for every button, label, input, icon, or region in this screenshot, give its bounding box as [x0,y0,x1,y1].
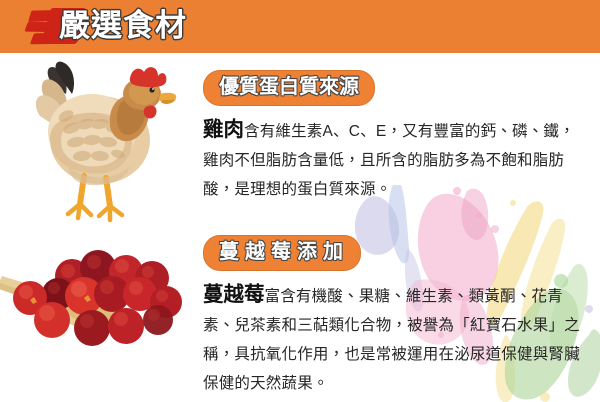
protein-body-text: 雞肉含有維生素A、C、E，又有豐富的鈣、磷、鐵，雞肉不但脂肪含量低，且所含的脂肪… [203,115,588,204]
page-title: 嚴選食材 [59,7,187,45]
section-protein: 優質蛋白質來源 雞肉含有維生素A、C、E，又有豐富的鈣、磷、鐵，雞肉不但脂肪含量… [203,70,588,204]
badge-protein-title: 優質蛋白質來源 [203,70,375,106]
header-bar: 嚴選食材 [0,0,600,53]
cranberry-lead-word: 蔓越莓 [203,283,265,306]
badge-cranberry-title: 蔓越莓添加 [203,235,361,271]
section-cranberry: 蔓越莓添加 蔓越莓富含有機酸、果糖、維生素、類黃酮、花青素、兒茶素和三萜類化合物… [203,235,588,398]
product-ingredient-card: 嚴選食材 [0,0,600,402]
protein-body-copy: 含有維生素A、C、E，又有豐富的鈣、磷、鐵，雞肉不但脂肪含量低，且所含的脂肪多為… [203,123,575,198]
cranberry-body-text: 蔓越莓富含有機酸、果糖、維生素、類黃酮、花青素、兒茶素和三萜類化合物，被譽為「紅… [203,280,588,398]
protein-lead-word: 雞肉 [203,118,244,141]
content-area: 優質蛋白質來源 雞肉含有維生素A、C、E，又有豐富的鈣、磷、鐵，雞肉不但脂肪含量… [0,53,600,402]
